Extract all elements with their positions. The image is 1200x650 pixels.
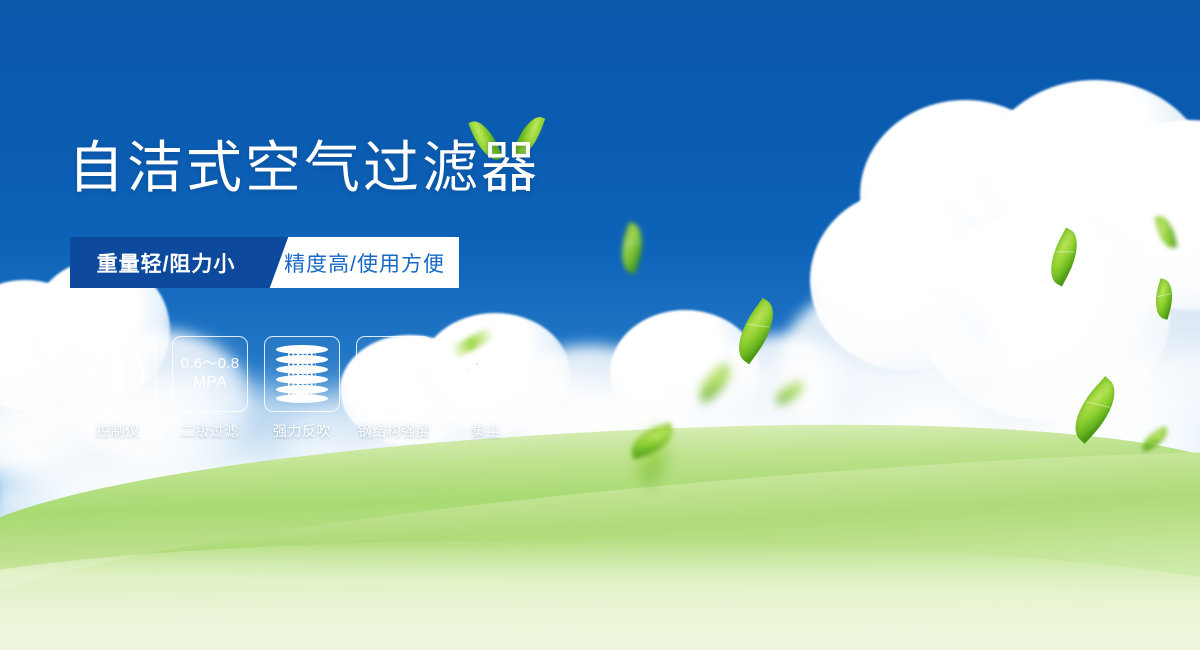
gauge-tick	[140, 379, 143, 382]
gauge-tick	[96, 358, 99, 361]
feature-list: NO OFF 控制仪 0.6～0.8 MPA 二级过滤	[80, 336, 524, 441]
feature-label: 钢结构强度	[356, 421, 432, 441]
subtitle-left-segment: 重量轻/阻力小	[70, 237, 262, 288]
feature-icon-box: 0.6～0.8 MPA	[172, 336, 248, 412]
gauge-tick	[92, 379, 95, 382]
feature-item-pressure[interactable]: 0.6～0.8 MPA 二级过滤	[172, 336, 248, 441]
filter-ring	[276, 345, 328, 354]
filter-ring	[276, 355, 328, 364]
filter-ring	[276, 375, 328, 384]
pressure-line-1: 0.6～0.8	[181, 354, 240, 373]
steel-line-2: 钢板	[365, 373, 423, 393]
feature-label: 强力反吹	[264, 421, 340, 441]
steel-plate-text-icon: 3～8MM 钢板	[365, 354, 423, 394]
feature-icon-box	[264, 336, 340, 412]
feature-item-blowback[interactable]: 强力反吹	[264, 336, 340, 441]
cloud-body	[467, 364, 511, 387]
gauge-tick	[91, 372, 94, 375]
air-label: Air	[457, 391, 515, 403]
gauge-tick	[91, 375, 94, 378]
subtitle-right-segment: 精度高/使用方便	[262, 237, 459, 288]
cloud-air-icon: Air	[457, 349, 515, 399]
filter-ring	[276, 365, 328, 374]
feature-label: 二级过滤	[172, 421, 248, 441]
feature-icon-box: 3～8MM 钢板	[356, 336, 432, 412]
subtitle-band: 重量轻/阻力小 精度高/使用方便	[70, 237, 459, 288]
pressure-line-2: MPA	[181, 373, 240, 393]
feature-icon-box: NO OFF	[80, 336, 156, 412]
feature-item-steel-plate[interactable]: 3～8MM 钢板 钢结构强度	[356, 336, 432, 441]
filter-ring	[276, 385, 328, 394]
filter-ring	[276, 394, 328, 403]
gauge-needle	[114, 353, 123, 394]
gauge-off-label: OFF	[136, 390, 150, 397]
feature-label: 集尘	[448, 421, 524, 441]
filter-stack-icon	[276, 345, 328, 403]
gauge-tick	[93, 364, 96, 367]
gauge-tick	[141, 368, 144, 371]
gauge-tick	[94, 361, 97, 364]
feature-label: 控制仪	[80, 421, 156, 441]
steel-line-1: 3～8MM	[365, 354, 423, 373]
feature-item-control-gauge[interactable]: NO OFF 控制仪	[80, 336, 156, 441]
feature-icon-box: Air	[448, 336, 524, 412]
product-banner: 自洁式空气过滤器 重量轻/阻力小 精度高/使用方便 NO OFF 控制仪 0.6…	[0, 0, 1200, 650]
feature-item-dust-collection[interactable]: Air 集尘	[448, 336, 524, 441]
page-title: 自洁式空气过滤器	[68, 140, 540, 196]
pressure-text-icon: 0.6～0.8 MPA	[181, 354, 240, 394]
gauge-icon: NO OFF	[87, 343, 149, 405]
